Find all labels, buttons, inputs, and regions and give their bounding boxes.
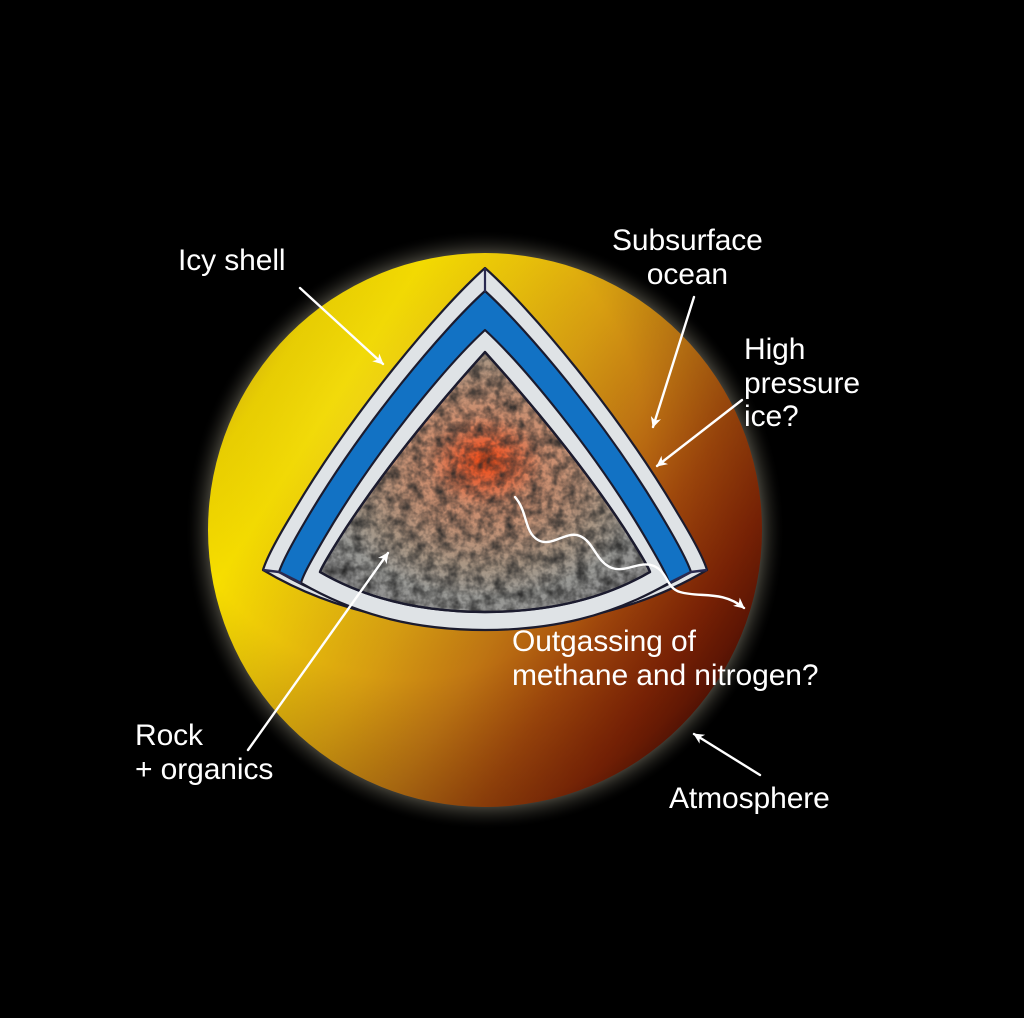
leader-atmosphere bbox=[694, 734, 760, 775]
interior-cutaway-illustration bbox=[0, 0, 1024, 1018]
diagram-canvas: Icy shell Subsurface ocean High pressure… bbox=[0, 0, 1024, 1018]
